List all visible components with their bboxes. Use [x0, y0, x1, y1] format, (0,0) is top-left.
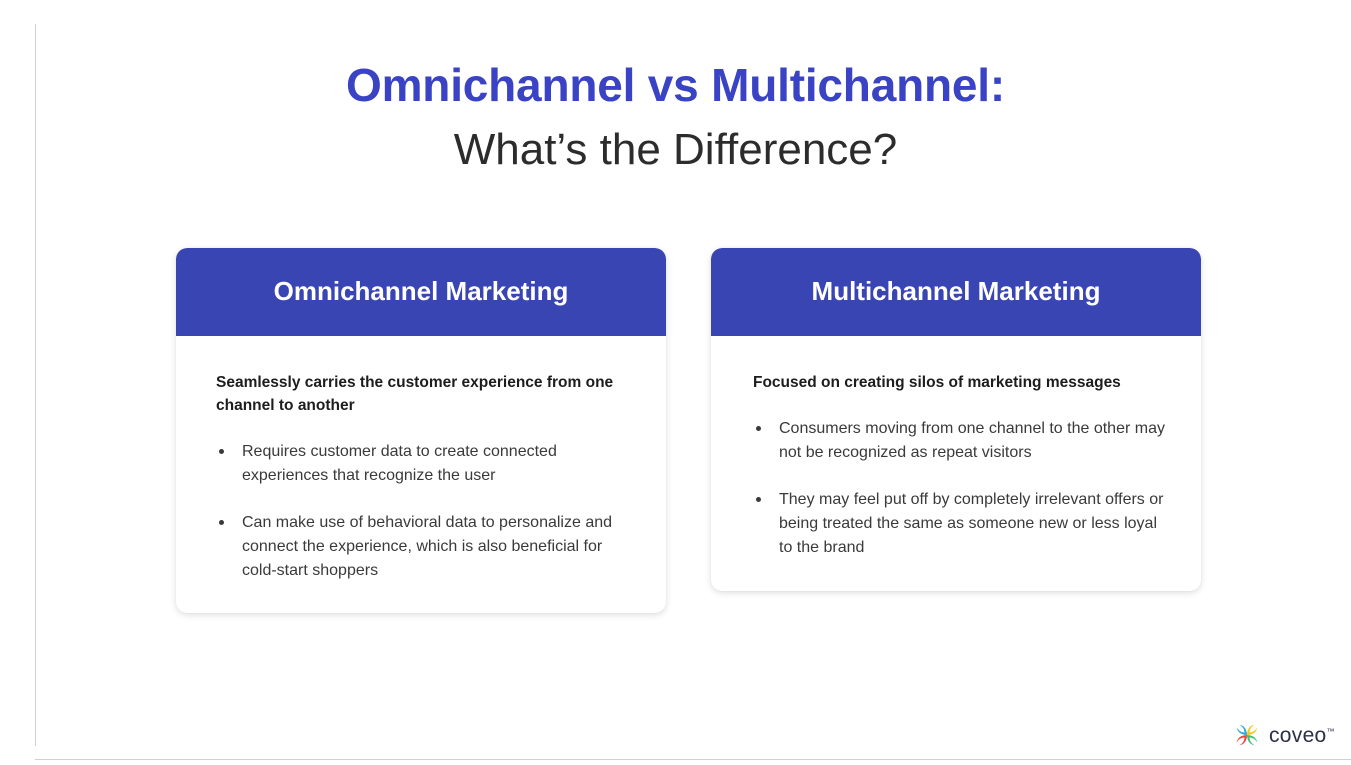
list-item-text: Requires customer data to create connect… [242, 443, 557, 484]
coveo-wordmark: coveo™ [1269, 725, 1335, 746]
list-item: Requires customer data to create connect… [216, 440, 636, 489]
card-omnichannel-header: Omnichannel Marketing [176, 248, 666, 336]
card-multichannel: Multichannel Marketing Focused on creati… [711, 248, 1201, 591]
card-omnichannel-lead: Seamlessly carries the customer experien… [216, 372, 636, 418]
bullet-point-icon [756, 497, 761, 502]
list-item: They may feel put off by completely irre… [753, 488, 1171, 561]
list-item-text: They may feel put off by completely irre… [779, 491, 1163, 557]
slide-canvas: Omnichannel vs Multichannel: What’s the … [0, 0, 1351, 765]
bullet-point-icon [219, 449, 224, 454]
list-item: Consumers moving from one channel to the… [753, 417, 1171, 466]
slide-bottom-rule [35, 759, 1351, 760]
comparison-cards: Omnichannel Marketing Seamlessly carries… [176, 248, 1201, 613]
card-omnichannel-body: Seamlessly carries the customer experien… [176, 336, 666, 613]
bullet-point-icon [219, 520, 224, 525]
card-multichannel-header-title: Multichannel Marketing [812, 276, 1101, 307]
slide-title: Omnichannel vs Multichannel: What’s the … [0, 58, 1351, 176]
card-omnichannel: Omnichannel Marketing Seamlessly carries… [176, 248, 666, 613]
title-line-primary: Omnichannel vs Multichannel: [0, 58, 1351, 112]
card-multichannel-header: Multichannel Marketing [711, 248, 1201, 336]
list-item: Can make use of behavioral data to perso… [216, 511, 636, 584]
list-item-text: Consumers moving from one channel to the… [779, 420, 1165, 461]
list-item-text: Can make use of behavioral data to perso… [242, 514, 612, 580]
card-multichannel-body: Focused on creating silos of marketing m… [711, 336, 1201, 591]
coveo-logo: coveo™ [1232, 720, 1335, 750]
coveo-wordmark-text: coveo [1269, 724, 1327, 747]
bullet-point-icon [756, 426, 761, 431]
card-omnichannel-bullet-list: Requires customer data to create connect… [216, 440, 636, 584]
card-multichannel-lead: Focused on creating silos of marketing m… [753, 372, 1153, 395]
coveo-pinwheel-icon [1232, 720, 1262, 750]
card-omnichannel-header-title: Omnichannel Marketing [274, 276, 569, 307]
title-line-secondary: What’s the Difference? [0, 124, 1351, 176]
trademark-symbol: ™ [1327, 727, 1335, 736]
card-multichannel-bullet-list: Consumers moving from one channel to the… [753, 417, 1171, 561]
